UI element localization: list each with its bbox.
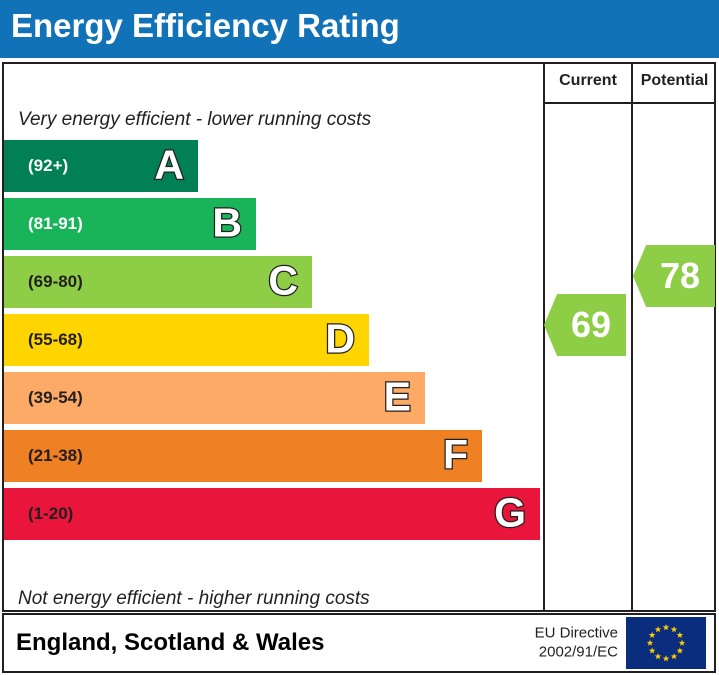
energy-efficiency-rating-chart: Energy Efficiency Rating Current Potenti… [0, 0, 719, 675]
footer-directive-line2: 2002/91/EC [535, 643, 618, 662]
band-letter-g: G [494, 493, 526, 534]
potential-rating-marker: 78 [633, 245, 715, 307]
footer-directive-line1: EU Directive [535, 624, 618, 643]
band-row-f: (21-38) F [4, 430, 482, 482]
footer-bar: England, Scotland & Wales EU Directive 2… [2, 613, 716, 673]
column-header-current: Current [545, 72, 631, 90]
band-range-f: (21-38) [28, 446, 83, 466]
band-row-b: (81-91) B [4, 198, 256, 250]
band-letter-d: D [325, 319, 355, 360]
band-letter-f: F [443, 435, 468, 476]
band-row-c: (69-80) C [4, 256, 312, 308]
band-range-e: (39-54) [28, 388, 83, 408]
column-header-potential: Potential [633, 72, 716, 90]
current-rating-marker: 69 [544, 294, 626, 356]
band-row-d: (55-68) D [4, 314, 369, 366]
caption-not-efficient: Not energy efficient - higher running co… [18, 588, 370, 610]
caption-very-efficient: Very energy efficient - lower running co… [18, 109, 371, 131]
band-range-g: (1-20) [28, 504, 73, 524]
band-range-a: (92+) [28, 156, 68, 176]
band-row-a: (92+) A [4, 140, 198, 192]
band-row-e: (39-54) E [4, 372, 425, 424]
page-title: Energy Efficiency Rating [11, 7, 400, 45]
current-rating-value: 69 [559, 307, 611, 343]
column-divider-current [543, 64, 545, 610]
band-range-b: (81-91) [28, 214, 83, 234]
band-range-c: (69-80) [28, 272, 83, 292]
band-list: (92+) A (81-91) B (69-80) C (55-68) D (3… [4, 140, 543, 580]
footer-directive-label: EU Directive 2002/91/EC [535, 624, 618, 662]
column-divider-potential [631, 64, 633, 610]
potential-rating-value: 78 [648, 258, 700, 294]
band-row-g: (1-20) G [4, 488, 540, 540]
footer-region-label: England, Scotland & Wales [16, 629, 324, 657]
band-letter-e: E [384, 377, 411, 418]
band-letter-a: A [154, 145, 184, 186]
chart-title-bar: Energy Efficiency Rating [0, 0, 719, 58]
eu-flag-icon [626, 617, 706, 669]
header-row-separator [543, 102, 714, 104]
band-letter-b: B [212, 203, 242, 244]
band-range-d: (55-68) [28, 330, 83, 350]
band-letter-c: C [268, 261, 298, 302]
